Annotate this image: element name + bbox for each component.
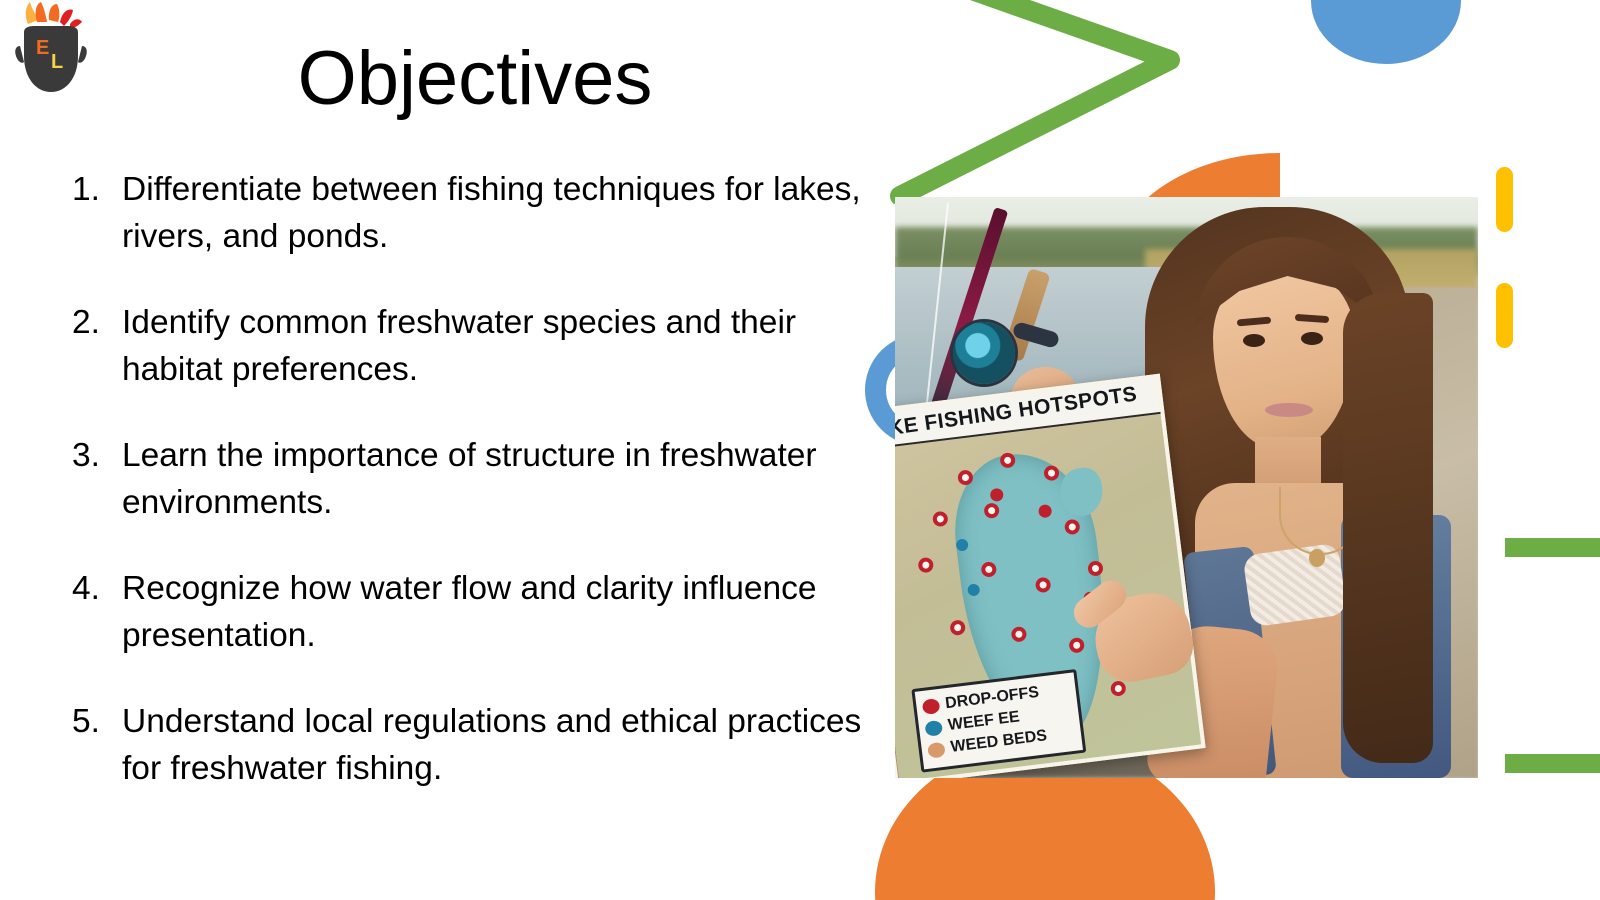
page-title: Objectives	[80, 36, 870, 122]
girl-hair-strand-right	[1343, 293, 1433, 763]
list-item: 2. Identify common freshwater species an…	[72, 299, 862, 393]
objectives-list: 1. Differentiate between fishing techniq…	[72, 166, 862, 831]
list-item: 1. Differentiate between fishing techniq…	[72, 166, 862, 260]
list-item-text: Recognize how water flow and clarity inf…	[122, 565, 862, 659]
list-item-text: Differentiate between fishing techniques…	[122, 166, 862, 260]
fishing-reel	[953, 322, 1015, 384]
girl-mouth	[1265, 403, 1313, 417]
necklace-pendant	[1309, 549, 1325, 567]
map-pin	[1087, 560, 1104, 577]
list-item: 4. Recognize how water flow and clarity …	[72, 565, 862, 659]
list-item-number: 2.	[72, 299, 122, 346]
list-item-number: 5.	[72, 698, 122, 745]
map-pin	[932, 511, 949, 528]
legend-dot-drop-offs-icon	[922, 698, 941, 715]
map-pin	[1110, 680, 1127, 697]
girl-eye-left	[1243, 334, 1265, 347]
green-bar-shape-top	[1505, 538, 1600, 557]
map-pin	[917, 557, 934, 574]
list-item-number: 3.	[72, 432, 122, 479]
map-pin	[949, 619, 966, 636]
fishing-hotspots-map: DROP-OFFS WEEF EE WEED BEDS LAKE FISHING…	[895, 374, 1206, 778]
svg-text:E: E	[36, 37, 49, 59]
blue-circle-shape	[1311, 0, 1461, 64]
list-item: 5. Understand local regulations and ethi…	[72, 698, 862, 792]
legend-dot-weed-beds-icon	[927, 741, 946, 758]
list-item-number: 1.	[72, 166, 122, 213]
slide-canvas: E L Objectives 1. Differentiate between …	[0, 0, 1600, 900]
list-item: 3. Learn the importance of structure in …	[72, 432, 862, 526]
legend-dot-weef-ee-icon	[924, 719, 943, 736]
yellow-pill-shape-top	[1496, 167, 1513, 232]
map-legend: DROP-OFFS WEEF EE WEED BEDS	[911, 669, 1086, 773]
list-item-text: Identify common freshwater species and t…	[122, 299, 862, 393]
svg-text:L: L	[51, 51, 63, 73]
list-item-number: 4.	[72, 565, 122, 612]
list-item-text: Understand local regulations and ethical…	[122, 698, 862, 792]
yellow-pill-shape-bottom	[1496, 283, 1513, 348]
list-item-text: Learn the importance of structure in fre…	[122, 432, 862, 526]
lace-top	[1242, 543, 1347, 628]
girl-eye-right	[1301, 332, 1323, 345]
green-bar-shape-bottom	[1505, 754, 1600, 773]
green-triangle-outline-shape	[870, 0, 1200, 204]
fishing-photo: DROP-OFFS WEEF EE WEED BEDS LAKE FISHING…	[895, 197, 1478, 778]
